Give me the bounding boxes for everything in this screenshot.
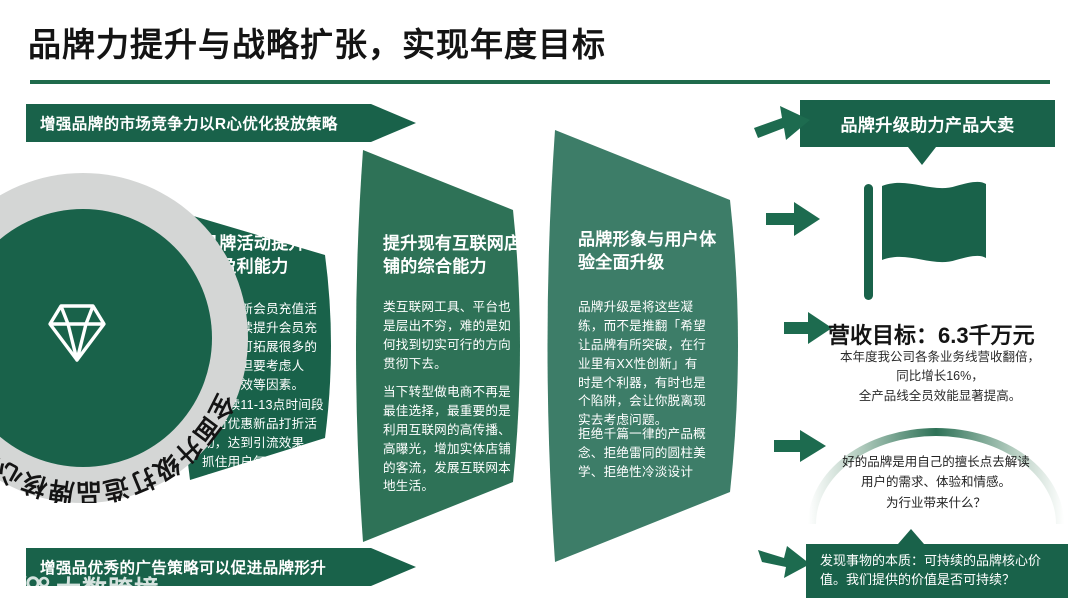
panel-2-heading: 提升现有互联网店铺的综合能力 bbox=[383, 232, 523, 279]
revenue-goal-detail: 本年度我公司各条业务线营收翻倍， 同比增长16%， 全产品线全员效能显著提高。 bbox=[800, 348, 1080, 406]
revenue-goal-value: 6.3千万元 bbox=[938, 323, 1035, 348]
arrow-to-goal-icon bbox=[782, 310, 834, 346]
arch-text: 好的品牌是用自己的擅长点去解读 用户的需求、体验和情感。 为行业带来什么？ bbox=[804, 452, 1068, 513]
watermark: 大数跨境 bbox=[6, 570, 160, 606]
banner-top-right: 品牌升级助力产品大卖 bbox=[800, 100, 1055, 147]
flag-icon bbox=[860, 178, 990, 300]
revenue-goal-label: 营收目标： bbox=[828, 323, 938, 348]
svg-text:全面升级打造品牌核心DNA: 全面升级打造品牌核心DNA bbox=[0, 388, 240, 503]
panel-2-para-2: 当下转型做电商不再是最佳选择，最重要的是利用互联网的高传播、高曝光，增加实体店铺… bbox=[383, 383, 513, 496]
banner-top-right-label: 品牌升级助力产品大卖 bbox=[841, 111, 1015, 136]
arrow-to-banner-icon bbox=[752, 102, 814, 148]
infographic-canvas: 品牌力提升与战略扩张，实现年度目标 品牌活动提升单店盈利能力 可丰富新会员充值活… bbox=[0, 0, 1080, 608]
arrow-to-note-icon bbox=[754, 540, 812, 582]
panel-3-heading: 品牌形象与用户体验全面升级 bbox=[578, 228, 718, 275]
brand-logo-icon bbox=[6, 574, 50, 602]
note-box: 发现事物的本质：可持续的品牌核心价值。我们提供的价值是否可持续？ bbox=[806, 544, 1068, 598]
banner-top-left-label: 增强品牌的市场竞争力以R心优化投放策略 bbox=[26, 112, 338, 134]
diamond-icon bbox=[40, 300, 114, 366]
panel-3-para-2: 拒绝千篇一律的产品概念、拒绝雷同的圆柱美学、拒绝性冷淡设计 bbox=[578, 425, 712, 482]
arrow-to-flag-icon bbox=[764, 200, 822, 238]
page-title: 品牌力提升与战略扩张，实现年度目标 bbox=[28, 18, 606, 66]
revenue-goal: 营收目标：6.3千万元 bbox=[828, 318, 1035, 350]
watermark-text: 大数跨境 bbox=[56, 570, 160, 606]
title-divider bbox=[30, 80, 1050, 84]
panel-3-para-1: 品牌升级是将这些凝练，而不是推翻「希望让品牌有所突破，在行业里有XX性创新」有时… bbox=[578, 298, 710, 430]
banner-top-left: 增强品牌的市场竞争力以R心优化投放策略 bbox=[26, 104, 416, 142]
ring-text-label: 全面升级打造品牌核心DNA bbox=[0, 388, 240, 503]
circle-ring-text: 全面升级打造品牌核心DNA bbox=[0, 173, 248, 503]
note-box-label: 发现事物的本质：可持续的品牌核心价值。我们提供的价值是否可持续？ bbox=[820, 553, 1041, 587]
panel-2-para-1: 类互联网工具、平台也是层出不穷，难的是如何找到切实可行的方向贯彻下去。 bbox=[383, 298, 511, 374]
